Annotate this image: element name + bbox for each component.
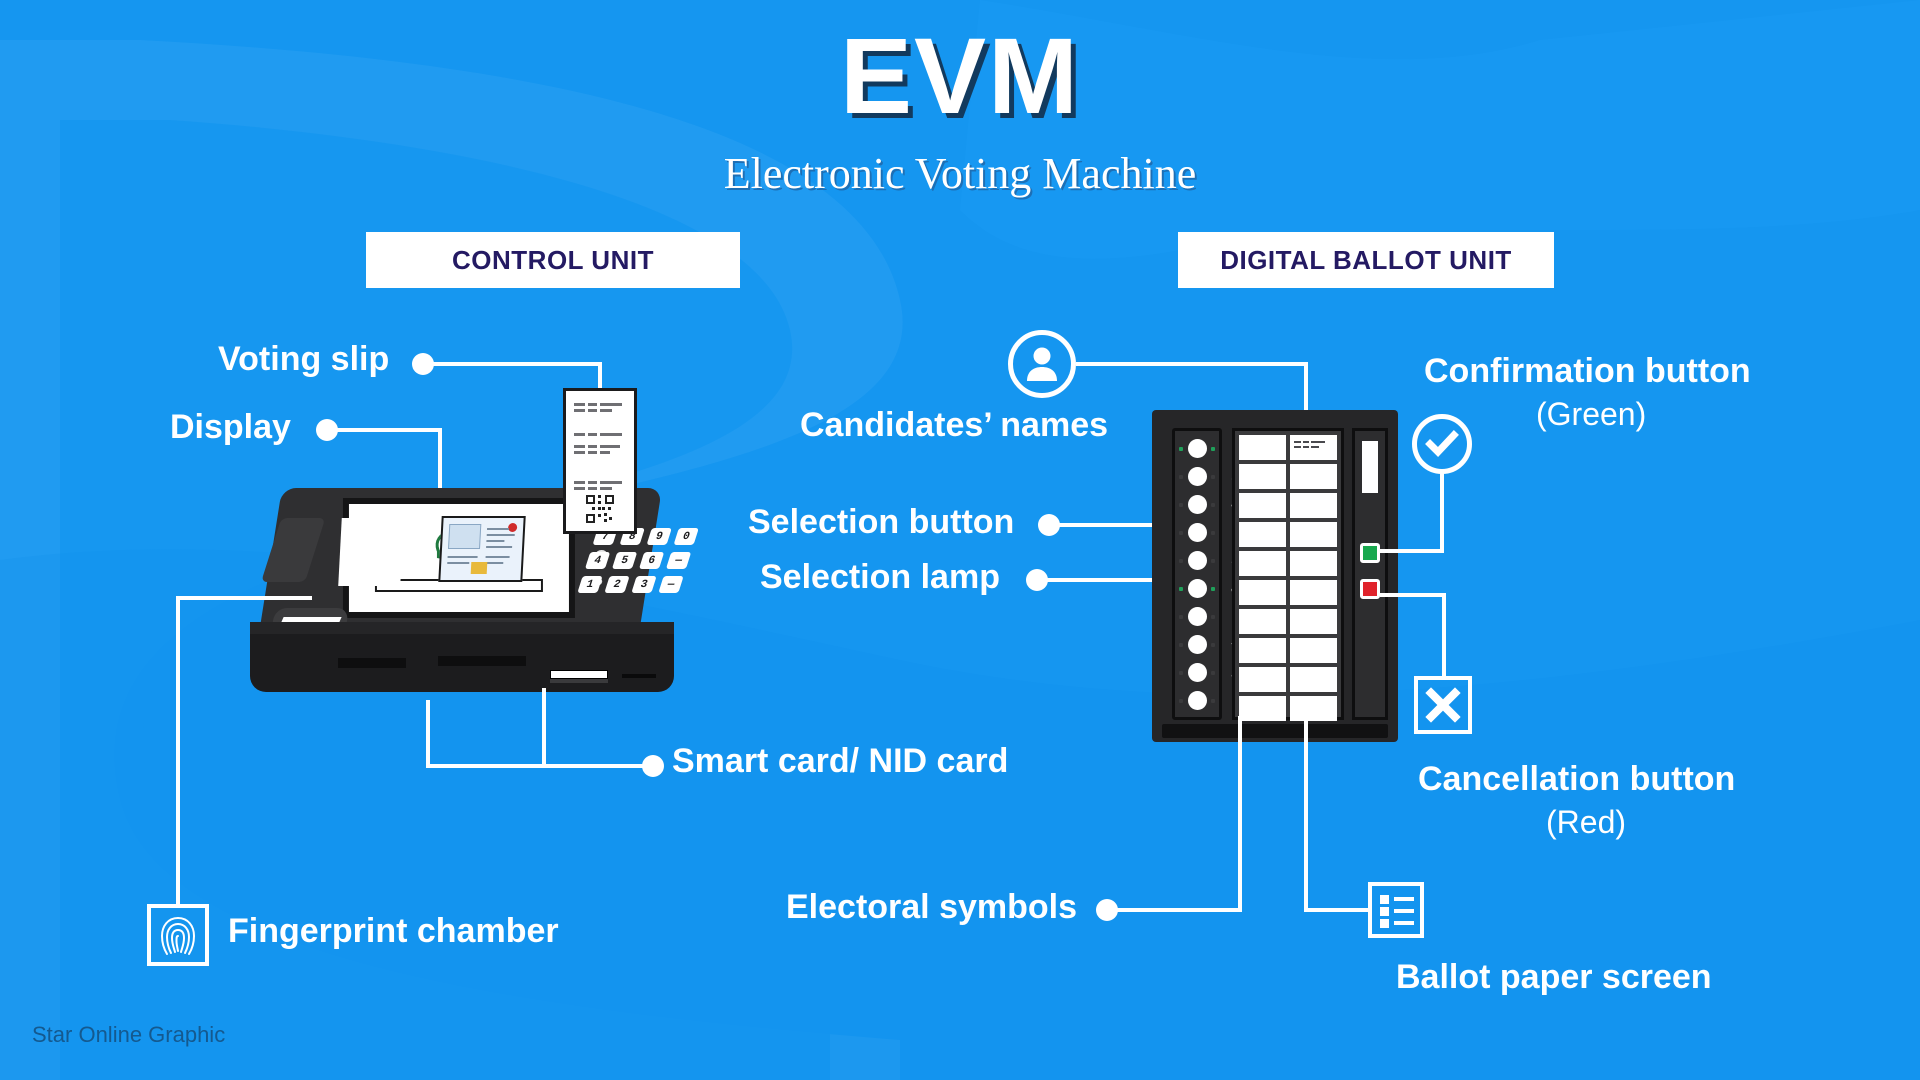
voting-slip-text-row-4 (574, 481, 622, 484)
nid-card-line-7 (486, 556, 510, 558)
candidate-name-cell-7 (1290, 609, 1337, 634)
selection-lamp-4-left (1179, 531, 1183, 535)
ballot-row-1 (1239, 435, 1337, 460)
keypad-key-r1c2[interactable]: 6 (639, 552, 664, 569)
page-subtitle: Electronic Voting Machine (0, 148, 1920, 199)
selection-lamp-6-left (1179, 587, 1183, 591)
leader-dot-electoral-symbols (1096, 899, 1118, 921)
leader-dot-smartcard (642, 755, 664, 777)
callout-cancellation-button-sublabel: (Red) (1546, 804, 1626, 841)
person-icon (1019, 341, 1065, 387)
nid-card[interactable] (438, 516, 525, 582)
control-unit-sim-slot-shadow (550, 679, 608, 683)
selection-button-9[interactable] (1188, 663, 1207, 682)
candidate-name-cell-4 (1290, 522, 1337, 547)
cancellation-button[interactable] (1360, 579, 1380, 599)
candidate-name-text-1a (1294, 441, 1325, 443)
selection-button-10[interactable] (1188, 691, 1207, 710)
selection-lamp-7-right (1211, 615, 1215, 619)
candidate-name-cell-5 (1290, 551, 1337, 576)
selection-button-1[interactable] (1188, 439, 1207, 458)
ballot-unit-paper-list (1232, 428, 1344, 720)
selection-lamp-5-left (1179, 559, 1183, 563)
ballot-row-3 (1239, 493, 1337, 518)
electoral-symbol-cell-3 (1239, 493, 1286, 518)
nid-card-photo (448, 524, 481, 549)
leader-line-cancel-v (1442, 593, 1446, 678)
callout-confirmation-button-sublabel: (Green) (1536, 396, 1646, 433)
selection-button-7[interactable] (1188, 607, 1207, 626)
voting-slip-text-row-3b (574, 451, 610, 454)
callout-ballot-paper-screen-label: Ballot paper screen (1396, 958, 1712, 997)
ballot-row-8 (1239, 638, 1337, 663)
candidate-name-cell-2 (1290, 464, 1337, 489)
keypad-key-r2c2[interactable]: 3 (631, 576, 656, 593)
voting-slip-text-row-4b (574, 487, 612, 490)
selection-lamp-1-right (1211, 447, 1215, 451)
credit-line: Star Online Graphic (32, 1022, 225, 1048)
candidate-name-cell-10 (1290, 696, 1337, 721)
nid-card-seal-icon (508, 523, 517, 532)
voting-slip-qr-code-icon (586, 495, 614, 523)
candidate-name-cell-8 (1290, 638, 1337, 663)
selection-lamp-3-left (1179, 503, 1183, 507)
nid-card-line-3 (486, 540, 504, 542)
page-title: EVM (0, 22, 1920, 130)
leader-line-ballotscreen-h (1304, 908, 1370, 912)
callout-selection-button-label: Selection button (748, 503, 1014, 542)
list-icon (1376, 890, 1420, 934)
keypad-key-r2c3[interactable]: — (658, 576, 683, 593)
selection-button-8[interactable] (1188, 635, 1207, 654)
leader-dot-selection-lamp (1026, 569, 1048, 591)
callout-fingerprint-chamber-label: Fingerprint chamber (228, 912, 559, 951)
leader-line-symbols-v (1238, 716, 1242, 912)
leader-line-candidates-h (1076, 362, 1308, 366)
callout-cancellation-button-label: Cancellation button (1418, 760, 1735, 799)
electoral-symbol-cell-2 (1239, 464, 1286, 489)
leader-line-fingerprint-h (176, 596, 312, 600)
keypad-key-r1c0[interactable]: 4 (585, 552, 610, 569)
selection-button-2[interactable] (1188, 467, 1207, 486)
selection-button-3[interactable] (1188, 495, 1207, 514)
section-banner-digital-ballot-unit: DIGITAL BALLOT UNIT (1178, 232, 1554, 288)
ballot-row-2 (1239, 464, 1337, 489)
nid-card-line-2 (487, 534, 515, 536)
keypad-key-r2c1[interactable]: 2 (604, 576, 629, 593)
section-banner-digital-ballot-unit-label: DIGITAL BALLOT UNIT (1220, 245, 1512, 276)
candidate-name-text-1b (1294, 446, 1319, 448)
ballot-unit-button-column: ১ ২ ৩ ৪ ৫ ৬ ৭ (1172, 428, 1222, 720)
nid-card-line-8 (485, 562, 503, 564)
selection-lamp-6-right (1211, 587, 1215, 591)
selection-lamp-10-right (1211, 699, 1215, 703)
leader-line-smartcard-h (426, 764, 646, 768)
control-unit-rear-line (622, 674, 656, 678)
callout-display-label: Display (170, 408, 291, 447)
selection-lamp-8-right (1211, 643, 1215, 647)
leader-line-symbols-h (1112, 908, 1242, 912)
selection-button-6[interactable] (1188, 579, 1207, 598)
electoral-symbol-cell-8 (1239, 638, 1286, 663)
nid-card-line-6 (447, 562, 469, 564)
keypad-key-r0c3[interactable]: 0 (673, 528, 698, 545)
callout-smart-card-label: Smart card/ NID card (672, 742, 1008, 781)
voting-slip-text-row-1 (574, 403, 622, 406)
ballot-row-10 (1239, 696, 1337, 721)
ballot-row-7 (1239, 609, 1337, 634)
electoral-symbol-cell-4 (1239, 522, 1286, 547)
leader-dot-selection-button (1038, 514, 1060, 536)
nid-card-line-5 (448, 556, 478, 558)
fingerprint-chamber-icon-box (147, 904, 209, 966)
leader-dot-voting-slip (412, 353, 434, 375)
candidate-name-cell-6 (1290, 580, 1337, 605)
control-unit-card-slot-left (338, 658, 406, 668)
selection-lamp-9-right (1211, 671, 1215, 675)
nid-card-line-1 (487, 528, 509, 530)
electoral-symbol-cell-1 (1239, 435, 1286, 460)
list-icon-frame (1368, 882, 1424, 938)
control-unit-left-tab (261, 518, 325, 582)
ballot-unit-side-panel (1352, 428, 1388, 720)
x-box-icon-frame (1414, 676, 1472, 734)
keypad-key-r0c2[interactable]: 9 (646, 528, 671, 545)
ballot-unit-base (1162, 724, 1388, 738)
keypad-key-r2c0[interactable]: 1 (577, 576, 602, 593)
voting-slip-text-row-1b (574, 409, 612, 412)
electoral-symbol-cell-6 (1239, 580, 1286, 605)
leader-line-ballotscreen-v (1304, 716, 1308, 912)
callout-candidates-names-label: Candidates’ names (800, 406, 1108, 445)
control-unit-front-body (250, 622, 674, 692)
control-unit-card-slot-right (438, 656, 526, 666)
infographic-canvas: EVM Electronic Voting Machine CONTROL UN… (0, 0, 1920, 1080)
ballot-unit-side-label (1362, 441, 1378, 493)
selection-button-5[interactable] (1188, 551, 1207, 570)
candidate-name-cell-1 (1290, 435, 1337, 460)
electoral-symbol-cell-5 (1239, 551, 1286, 576)
check-circle-icon-ring (1412, 414, 1472, 474)
callout-voting-slip-label: Voting slip (218, 340, 389, 379)
callout-selection-lamp-label: Selection lamp (760, 558, 1000, 597)
leader-line-voting-slip-h (432, 362, 602, 366)
digital-ballot-unit-device: ১ ২ ৩ ৪ ৫ ৬ ৭ (1152, 410, 1398, 742)
smart-card-blank[interactable] (338, 518, 404, 586)
person-icon-circle (1008, 330, 1076, 398)
selection-lamp-5-right (1211, 559, 1215, 563)
selection-lamp-7-left (1179, 615, 1183, 619)
check-icon (1424, 426, 1460, 462)
electoral-symbol-cell-9 (1239, 667, 1286, 692)
nid-card-chip (471, 562, 488, 574)
selection-lamp-9-left (1179, 671, 1183, 675)
callout-electoral-symbols-label: Electoral symbols (786, 888, 1077, 927)
section-banner-control-unit: CONTROL UNIT (366, 232, 740, 288)
section-banner-control-unit-label: CONTROL UNIT (452, 245, 654, 276)
selection-lamp-10-left (1179, 699, 1183, 703)
selection-button-4[interactable] (1188, 523, 1207, 542)
selection-lamp-4-right (1211, 531, 1215, 535)
leader-dot-display (316, 419, 338, 441)
selection-lamp-8-left (1179, 643, 1183, 647)
selection-lamp-3-right (1211, 503, 1215, 507)
selection-lamp-1-left (1179, 447, 1183, 451)
leader-line-cancel-h (1380, 593, 1446, 597)
control-unit-body-edge (250, 622, 674, 634)
leader-line-confirm-h (1380, 549, 1442, 553)
keypad-key-r1c1[interactable]: 5 (612, 552, 637, 569)
electoral-symbol-cell-10 (1239, 696, 1286, 721)
close-icon (1424, 686, 1462, 724)
ballot-row-5 (1239, 551, 1337, 576)
voting-slip-text-row-2 (574, 433, 622, 436)
leader-line-smartcard-v-right (542, 688, 546, 768)
selection-lamp-2-left (1179, 475, 1183, 479)
fingerprint-icon (158, 912, 198, 958)
candidate-name-cell-9 (1290, 667, 1337, 692)
confirmation-button[interactable] (1360, 543, 1380, 563)
ballot-row-9 (1239, 667, 1337, 692)
leader-line-display-h (336, 428, 442, 432)
leader-line-smartcard-v-left (426, 700, 430, 768)
candidate-name-cell-3 (1290, 493, 1337, 518)
ballot-row-6 (1239, 580, 1337, 605)
leader-line-fingerprint-v (176, 596, 180, 906)
keypad-key-r1c3[interactable]: — (666, 552, 691, 569)
voting-slip (563, 388, 637, 534)
ballot-row-4 (1239, 522, 1337, 547)
control-unit-sim-slot (550, 670, 608, 679)
voting-slip-text-row-3 (574, 445, 620, 448)
callout-confirmation-button-label: Confirmation button (1424, 352, 1751, 391)
control-unit-keypad[interactable]: 7 8 9 0 4 5 6 — 1 2 3 — (573, 528, 702, 606)
electoral-symbol-cell-7 (1239, 609, 1286, 634)
nid-card-line-4 (486, 546, 512, 548)
selection-lamp-2-right (1211, 475, 1215, 479)
